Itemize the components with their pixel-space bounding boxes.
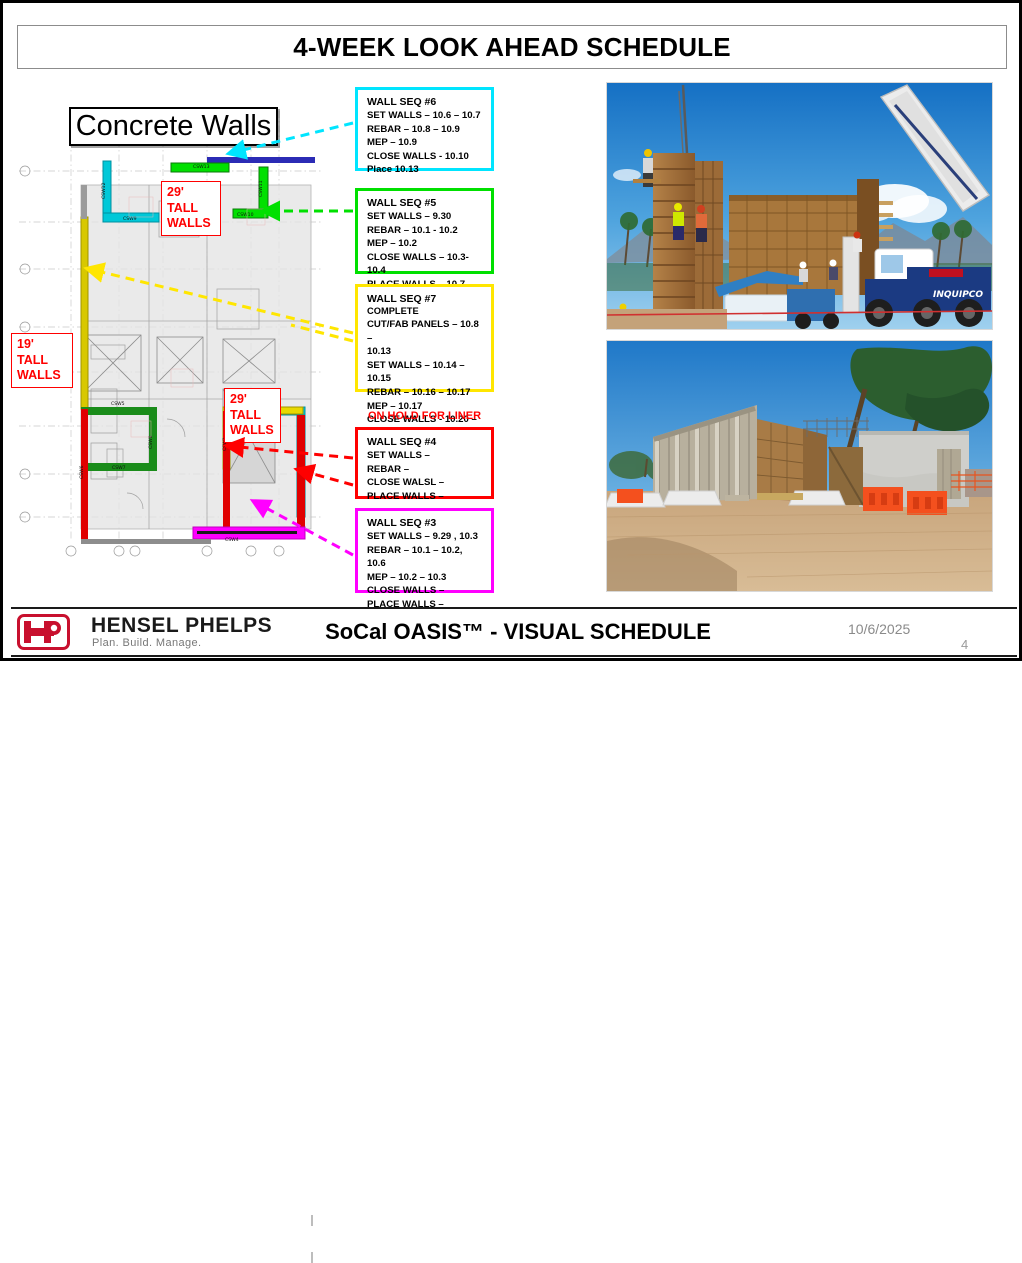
svg-text:CSW6: CSW6 bbox=[79, 465, 85, 479]
footer-divider-left bbox=[311, 1215, 313, 1226]
callout-line: SET WALLS – 10.6 – 10.7 bbox=[367, 109, 483, 123]
footer-divider-right bbox=[311, 1252, 313, 1263]
slide-title-box: 4-WEEK LOOK AHEAD SCHEDULE bbox=[17, 25, 1007, 69]
callout-line: REBAR – 10.1 – 10.2, 10.6 bbox=[367, 544, 483, 571]
hensel-phelps-logo-icon bbox=[17, 614, 70, 650]
callout-header: WALL SEQ #6 bbox=[367, 96, 483, 108]
label-19-tall-walls: 19' TALL WALLS bbox=[11, 333, 73, 388]
callout-header-suffix: COMPLETE bbox=[367, 306, 419, 316]
callout-line: REBAR – 10.1 - 10.2 bbox=[367, 224, 483, 238]
callout-line: MEP – 10.2 bbox=[367, 237, 483, 251]
svg-text:CSW5: CSW5 bbox=[111, 401, 125, 407]
callout-wall-seq-5[interactable]: WALL SEQ #5 SET WALLS – 9.30 REBAR – 10.… bbox=[355, 188, 494, 274]
callout-line: 10.13 bbox=[367, 345, 483, 359]
concrete-walls-label: Concrete Walls bbox=[76, 112, 272, 141]
callout-line: REBAR – 10.8 – 10.9 bbox=[367, 123, 483, 137]
callout-wall-seq-4[interactable]: WALL SEQ #4 SET WALLS – REBAR – CLOSE WA… bbox=[355, 427, 494, 499]
label-29-tall-walls-upper: 29' TALL WALLS bbox=[161, 181, 221, 236]
svg-text:CSW8: CSW8 bbox=[148, 435, 154, 449]
callout-line: MEP – 10.9 bbox=[367, 136, 483, 150]
callout-line: SET WALLS – 9.30 bbox=[367, 210, 483, 224]
callout-line: CLOSE WALSL – bbox=[367, 476, 483, 490]
callout-line: CLOSE WALLS – bbox=[367, 584, 483, 598]
photo-rebar-walls-crane[interactable]: INQUIPCO bbox=[606, 82, 993, 330]
slide-canvas: 4-WEEK LOOK AHEAD SCHEDULE bbox=[0, 0, 1022, 661]
svg-text:CSW4: CSW4 bbox=[225, 537, 239, 543]
status-badge-on-hold: ON HOLD FOR LINER bbox=[355, 410, 494, 422]
company-name: HENSEL PHELPS bbox=[91, 614, 272, 638]
callout-header: WALL SEQ #5 bbox=[367, 197, 483, 209]
svg-text:INQUIPCO: INQUIPCO bbox=[933, 290, 983, 300]
callout-header: WALL SEQ #7 COMPLETE bbox=[367, 293, 483, 317]
concrete-walls-title-box: Concrete Walls bbox=[69, 107, 278, 146]
callout-header: WALL SEQ #3 bbox=[367, 517, 483, 529]
callout-line: CLOSE WALLS - 10.10 bbox=[367, 150, 483, 164]
callout-line: REBAR – 10.16 – 10.17 bbox=[367, 386, 483, 400]
callout-line: MEP – 10.2 – 10.3 bbox=[367, 571, 483, 585]
footer-date: 10/6/2025 bbox=[848, 621, 910, 637]
svg-text:CSW7: CSW7 bbox=[112, 465, 126, 471]
svg-text:CSW10: CSW10 bbox=[237, 212, 254, 218]
callout-line: REBAR – bbox=[367, 463, 483, 477]
svg-text:CSW11: CSW11 bbox=[258, 180, 264, 197]
callout-header: WALL SEQ #4 bbox=[367, 436, 483, 448]
callout-wall-seq-6[interactable]: WALL SEQ #6 SET WALLS – 10.6 – 10.7 REBA… bbox=[355, 87, 494, 171]
page-title: 4-WEEK LOOK AHEAD SCHEDULE bbox=[293, 32, 731, 63]
label-29-tall-walls-lower: 29' TALL WALLS bbox=[224, 388, 281, 443]
callout-wall-seq-3[interactable]: WALL SEQ #3 SET WALLS – 9.29 , 10.3 REBA… bbox=[355, 508, 494, 593]
wall-csw13-top bbox=[207, 157, 315, 163]
callout-line: Place 10.13 bbox=[367, 163, 483, 177]
callout-wall-seq-7[interactable]: WALL SEQ #7 COMPLETE CUT/FAB PANELS – 10… bbox=[355, 284, 494, 392]
callout-line: CLOSE WALLS – 10.3- 10.4 bbox=[367, 251, 483, 278]
callout-line: CUT/FAB PANELS – 10.8 – bbox=[367, 318, 483, 345]
photo-formwork-concrete-walls[interactable] bbox=[606, 340, 993, 592]
footer-bottom-rule bbox=[11, 655, 1017, 657]
company-tagline: Plan. Build. Manage. bbox=[92, 637, 202, 649]
svg-text:CSW12: CSW12 bbox=[101, 182, 107, 199]
svg-text:CSW13: CSW13 bbox=[193, 164, 210, 170]
callout-line: PLACE WALLS – bbox=[367, 490, 483, 504]
footer-title: SoCal OASIS™ - VISUAL SCHEDULE bbox=[308, 619, 728, 645]
callout-line: SET WALLS – 10.14 – 10.15 bbox=[367, 359, 483, 386]
footer-page-number: 4 bbox=[961, 637, 968, 652]
callout-line: SET WALLS – 9.29 , 10.3 bbox=[367, 530, 483, 544]
callout-line: SET WALLS – bbox=[367, 449, 483, 463]
